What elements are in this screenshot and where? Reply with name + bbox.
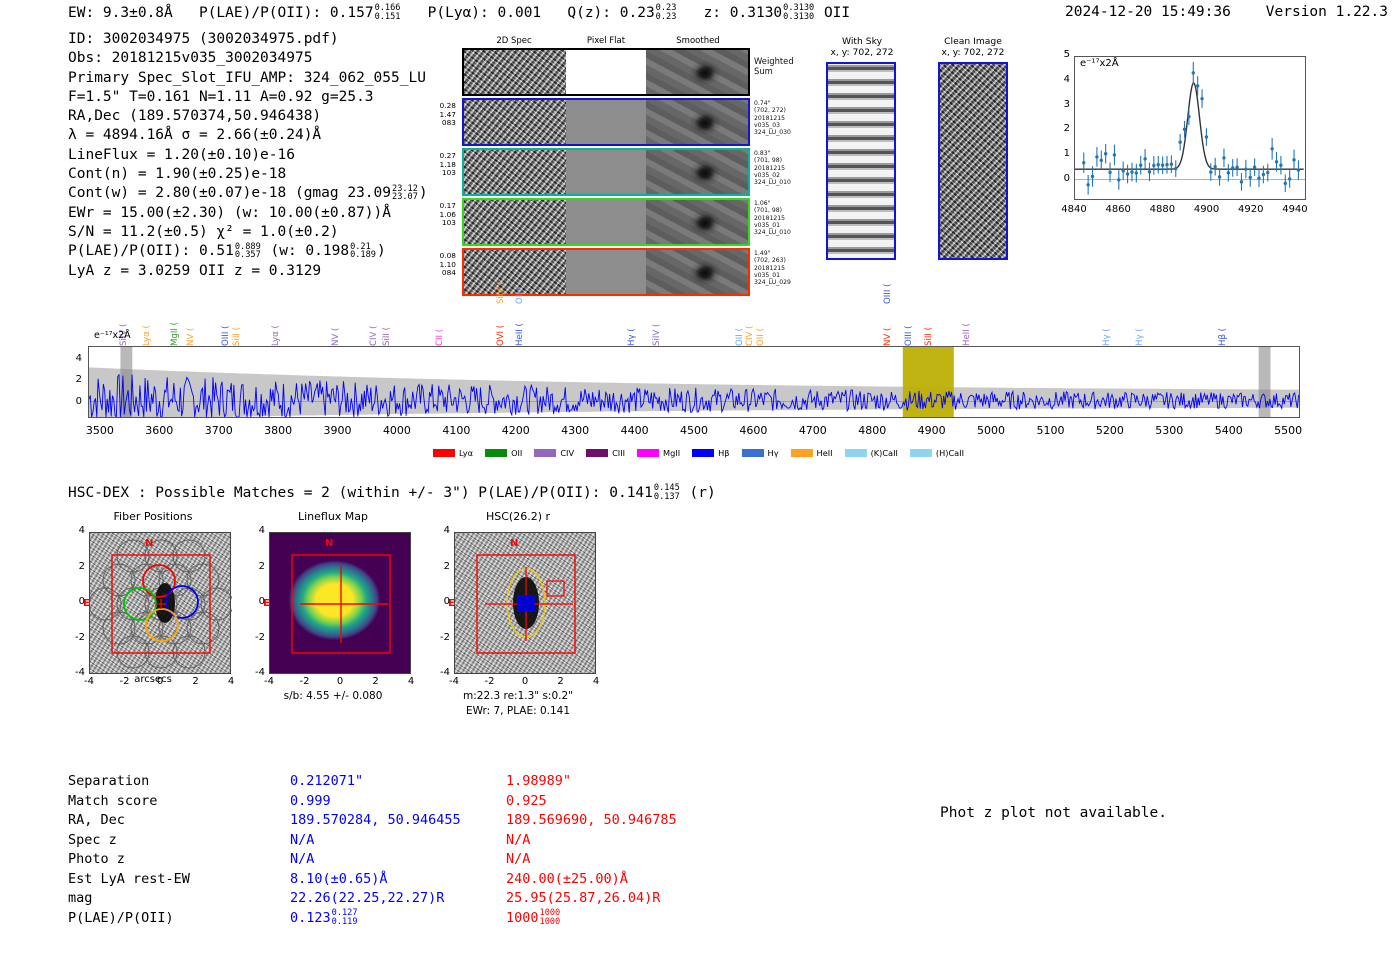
spectrum-xtick: 5000 xyxy=(967,424,1015,437)
match-row-red: N/A xyxy=(506,831,746,851)
zoom-line-plot: e⁻¹⁷x2Å 012345 484048604880490049204940 xyxy=(1040,56,1306,226)
match-row-red: 189.569690, 50.946785 xyxy=(506,811,746,831)
header-plae-range: 0.1660.151 xyxy=(375,4,401,22)
legend-swatch xyxy=(485,449,507,457)
spectrum-line-label: Hγ ( xyxy=(1135,304,1145,346)
montage-row-1-meta: 0.83"(701, 98)20181215v035_02324_LU_010 xyxy=(754,150,812,186)
spectrum-line-label: CIV ( xyxy=(745,304,755,346)
zoom-ytick: 5 xyxy=(1056,49,1070,60)
info-cont-w: Cont(w) = 2.80(±0.07)e-18 (gmag 23.0923.… xyxy=(68,184,428,203)
zoom-xtick: 4940 xyxy=(1275,204,1315,215)
photz-note: Phot z plot not available. xyxy=(940,805,1167,821)
compass-north-hsc: N xyxy=(510,538,518,549)
header-qz-value: 0.23 xyxy=(620,5,655,21)
spectrum-legend-item: Hγ xyxy=(742,448,779,458)
panel-ytick: 0 xyxy=(430,596,450,607)
panel-ytick: 0 xyxy=(245,596,265,607)
legend-swatch xyxy=(637,449,659,457)
zoom-xtick: 4880 xyxy=(1142,204,1182,215)
spectrum-legend-item: Lyα xyxy=(433,448,473,458)
match-row-red: 100010001000 xyxy=(506,909,746,929)
spectrum-ytick: 2 xyxy=(66,374,82,385)
match-row-red: 1.98989" xyxy=(506,772,746,792)
panel-ytick: 2 xyxy=(245,561,265,572)
zoom-plot-annotation: e⁻¹⁷x2Å xyxy=(1080,58,1119,69)
legend-label: CIV xyxy=(560,448,574,458)
source-info-block: ID: 3002034975 (3002034975.pdf) Obs: 201… xyxy=(68,30,428,281)
match-row-blue: 0.212071" xyxy=(290,772,520,792)
spectrum-legend-item: HeII xyxy=(791,448,833,458)
match-row-label: mag xyxy=(68,889,268,909)
zoom-xtick: 4900 xyxy=(1187,204,1227,215)
match-row-blue: 0.999 xyxy=(290,792,520,812)
cell-smoothed xyxy=(646,100,748,144)
match-row-blue: 189.570284, 50.946455 xyxy=(290,811,520,831)
spectrum-line-label: SiIV ( xyxy=(496,262,506,304)
fiber-overlay-svg xyxy=(90,533,232,675)
zoom-plot-axes xyxy=(1074,56,1306,200)
spectrum-annotation: e⁻¹⁷x2Å xyxy=(94,330,131,341)
header-z-line: OII xyxy=(824,5,850,21)
spectrum-legend-item: OII xyxy=(485,448,522,458)
info-lineflux: LineFlux = 1.20(±0.10)e-16 xyxy=(68,146,428,165)
panel-xtick: 2 xyxy=(547,676,575,687)
header-plya-value: 0.001 xyxy=(498,5,542,21)
panel-ytick: -2 xyxy=(65,632,85,643)
compass-north-lineflux: N xyxy=(325,538,333,549)
hscdex-summary: HSC-DEX : Possible Matches = 2 (within +… xyxy=(68,484,716,502)
hscdex-line-pre: HSC-DEX : Possible Matches = 2 (within +… xyxy=(68,485,653,501)
match-row-label: Match score xyxy=(68,792,268,812)
legend-label: Lyα xyxy=(459,448,473,458)
panel-xtick: -2 xyxy=(111,676,139,687)
panel-ytick: 2 xyxy=(430,561,450,572)
cell-smoothed xyxy=(646,150,748,194)
zoom-ytick: 0 xyxy=(1056,173,1070,184)
spectrum-xtick: 4300 xyxy=(551,424,599,437)
legend-swatch xyxy=(910,449,932,457)
spectrum-legend-item: CIV xyxy=(534,448,574,458)
header-ew: EW: 9.3±0.8Å xyxy=(68,5,173,21)
panel-xtick: 0 xyxy=(326,676,354,687)
spectrum-line-label: CIV ( xyxy=(369,304,379,346)
panel-xtick: 4 xyxy=(217,676,245,687)
spectrum-line-label: Hβ ( xyxy=(1218,304,1228,346)
info-obs: Obs: 20181215v035_3002034975 xyxy=(68,49,428,68)
match-row-blue: 22.26(22.25,22.27)R xyxy=(290,889,520,909)
panel-ytick: -4 xyxy=(430,667,450,678)
header-z-range: 0.31300.3130 xyxy=(783,4,814,22)
timestamp-version: 2024-12-20 15:49:36 Version 1.22.3 xyxy=(1065,4,1388,20)
zoom-xtick: 4840 xyxy=(1054,204,1094,215)
montage-row-2-meta: 1.06"(701, 98)20181215v035_01324_LU_010 xyxy=(754,200,812,236)
header-plae-label: P(LAE)/P(OII): xyxy=(199,5,321,21)
montage-weighted-sum-label: Weighted Sum xyxy=(754,56,812,76)
spectrum-xtick: 4000 xyxy=(373,424,421,437)
lineflux-overlay-svg xyxy=(270,533,412,675)
spectrum-axes xyxy=(88,346,1300,418)
info-plae: P(LAE)/P(OII): 0.510.8890.357 (w: 0.1980… xyxy=(68,242,428,261)
panel-xtick: -2 xyxy=(476,676,504,687)
legend-label: MgII xyxy=(663,448,680,458)
spectrum-legend: LyαOIICIVCIIIMgIIHβHγHeII(K)CaII(H)CaII xyxy=(433,442,976,461)
panel-ytick: 4 xyxy=(430,525,450,536)
legend-label: Hγ xyxy=(768,448,779,458)
cell-2dspec xyxy=(464,50,566,94)
legend-label: HeII xyxy=(817,448,833,458)
header-summary-line: EW: 9.3±0.8Å P(LAE)/P(OII): 0.1570.1660.… xyxy=(68,4,850,22)
cell-smoothed xyxy=(646,200,748,244)
spectrum-line-label: SiIV ( xyxy=(652,304,662,346)
spectrum-xtick: 4500 xyxy=(670,424,718,437)
legend-label: CIII xyxy=(612,448,625,458)
timestamp: 2024-12-20 15:49:36 xyxy=(1065,4,1231,20)
spectrum-line-label: OIII ( xyxy=(904,304,914,346)
cell-pixelflat xyxy=(566,50,646,94)
match-row-blue: N/A xyxy=(290,850,520,870)
cell-pixelflat xyxy=(566,250,646,294)
montage-row-weighted-sum xyxy=(462,48,750,96)
info-cont-n: Cont(n) = 1.90(±0.25)e-18 xyxy=(68,165,428,184)
spectrum-xtick: 5200 xyxy=(1086,424,1134,437)
legend-swatch xyxy=(692,449,714,457)
spectrum-xtick: 3600 xyxy=(135,424,183,437)
spectrum-line-label: OVI ( xyxy=(496,304,506,346)
info-ewr: EWr = 15.00(±2.30) (w: 10.00(±0.87))Å xyxy=(68,204,428,223)
montage-row-0-meta: 0.74"(702, 272)20181215v035_03324_LU_030 xyxy=(754,100,812,136)
spectrum-legend-item: Hβ xyxy=(692,448,729,458)
montage-row-2[interactable] xyxy=(462,198,750,246)
match-row-red: 0.925 xyxy=(506,792,746,812)
header-plae-value: 0.157 xyxy=(330,5,374,21)
spectrum-line-label: NV ( xyxy=(186,304,196,346)
legend-swatch xyxy=(845,449,867,457)
hsc-caption-1: m:22.3 re:1.3" s:0.2" xyxy=(423,690,613,702)
hsc-r-image[interactable] xyxy=(454,532,596,674)
panel-xtick: 0 xyxy=(146,676,174,687)
spectrum-xtick: 4900 xyxy=(908,424,956,437)
spectrum-xtick: 4200 xyxy=(492,424,540,437)
montage-row-1-left-stats: 0.271.18103 xyxy=(428,152,456,178)
spectrum-line-label: OII ( xyxy=(756,304,766,346)
panel-ytick: 4 xyxy=(65,525,85,536)
cell-pixelflat xyxy=(566,200,646,244)
match-row-label: Photo z xyxy=(68,850,268,870)
spectrum-xtick: 5100 xyxy=(1026,424,1074,437)
panel-ytick: 4 xyxy=(245,525,265,536)
cleanimage-title: Clean Imagex, y: 702, 272 xyxy=(918,36,1028,58)
panel-xtick: -2 xyxy=(291,676,319,687)
lineflux-map-image[interactable] xyxy=(269,532,411,674)
match-row-red: N/A xyxy=(506,850,746,870)
spectrum-svg xyxy=(89,347,1299,417)
panel-xtick: 0 xyxy=(511,676,539,687)
spectrum-legend-item: (K)CaII xyxy=(845,448,898,458)
montage-title-smoothed: Smoothed xyxy=(646,36,750,46)
info-params: F=1.5" T=0.161 N=1.11 A=0.92 g=25.3 xyxy=(68,88,428,107)
spectrum-line-label: Lyα ( xyxy=(271,304,281,346)
panel-ytick: -2 xyxy=(245,632,265,643)
clean-cutout-group: Clean Imagex, y: 702, 272 xyxy=(918,36,1028,58)
spectrum-xtick: 4700 xyxy=(789,424,837,437)
zoom-plot-svg xyxy=(1075,57,1305,199)
spectrum-line-label: NV ( xyxy=(331,304,341,346)
cell-2dspec xyxy=(464,200,566,244)
panel-ytick: -4 xyxy=(245,667,265,678)
spectrum-xtick: 4100 xyxy=(432,424,480,437)
info-primary-spec: Primary Spec_Slot_IFU_AMP: 324_062_055_L… xyxy=(68,69,428,88)
match-row-blue: 8.10(±0.65)Å xyxy=(290,870,520,890)
montage-title-2dspec: 2D Spec xyxy=(462,36,566,46)
spectrum-line-label: SiII ( xyxy=(382,304,392,346)
panel-ytick: 0 xyxy=(65,596,85,607)
spectrum-line-label: MgII ( xyxy=(170,304,180,346)
legend-swatch xyxy=(534,449,556,457)
spectrum-xtick: 3500 xyxy=(76,424,124,437)
match-row-label: Est LyA rest-EW xyxy=(68,870,268,890)
spectrum-xtick: 4400 xyxy=(611,424,659,437)
spectrum-xtick: 5300 xyxy=(1145,424,1193,437)
spectrum-xtick: 4800 xyxy=(848,424,896,437)
montage-row-3-left-stats: 0.081.10084 xyxy=(428,252,456,278)
spectrum-line-label: OII ( xyxy=(735,304,745,346)
montage-row-3-meta: 1.49"(702, 263)20181215v035_01324_LU_029 xyxy=(754,250,812,286)
match-row-blue: 0.1230.1270.119 xyxy=(290,909,520,929)
cell-smoothed xyxy=(646,250,748,294)
fiber-positions-title: Fiber Positions xyxy=(63,510,243,523)
montage-title-pixelflat: Pixel Flat xyxy=(566,36,646,46)
spectrum-line-label: SiII ( xyxy=(924,304,934,346)
cell-pixelflat xyxy=(566,150,646,194)
legend-swatch xyxy=(433,449,455,457)
legend-label: Hβ xyxy=(718,448,729,458)
cell-smoothed xyxy=(646,50,748,94)
legend-swatch xyxy=(791,449,813,457)
spectrum-xtick: 5500 xyxy=(1264,424,1312,437)
spectrum-xtick: 3700 xyxy=(195,424,243,437)
withsky-image xyxy=(826,62,896,260)
zoom-ytick: 4 xyxy=(1056,74,1070,85)
spectrum-line-label: OIII ( xyxy=(221,304,231,346)
full-spectrum-panel: SiIV (Lyα (MgII (NV (OIII (SiII (Lyα (NV… xyxy=(88,346,1300,418)
hscdex-plae-range: 0.1450.137 xyxy=(654,484,680,502)
lineflux-caption: s/b: 4.55 +/- 0.080 xyxy=(243,690,423,702)
hsc-r-title: HSC(26.2) r xyxy=(423,510,613,523)
header-z-value: 0.3130 xyxy=(730,5,782,21)
spectrum-line-label: OII ( xyxy=(515,262,525,304)
montage-row-1[interactable] xyxy=(462,148,750,196)
match-row-red: 25.95(25.87,26.04)R xyxy=(506,889,746,909)
spectrum-line-label: CII ( xyxy=(435,304,445,346)
legend-swatch xyxy=(742,449,764,457)
header-z-label: z: xyxy=(704,5,721,21)
zoom-ytick: 1 xyxy=(1056,148,1070,159)
lineflux-map-title: Lineflux Map xyxy=(243,510,423,523)
spectrum-line-label: SiII ( xyxy=(232,304,242,346)
spectrum-line-label: Lyα ( xyxy=(142,304,152,346)
match-row-label: RA, Dec xyxy=(68,811,268,831)
info-sn-chi2: S/N = 11.2(±0.5) χ² = 1.0(±0.2) xyxy=(68,223,428,242)
legend-label: (K)CaII xyxy=(871,448,898,458)
zoom-ytick: 2 xyxy=(1056,123,1070,134)
hscdex-line-post: (r) xyxy=(690,485,716,501)
zoom-xtick: 4920 xyxy=(1231,204,1271,215)
panel-ytick: -4 xyxy=(65,667,85,678)
fiber-positions-image[interactable] xyxy=(89,532,231,674)
cell-2dspec xyxy=(464,150,566,194)
cell-2dspec xyxy=(464,100,566,144)
version-label: Version 1.22.3 xyxy=(1266,4,1388,20)
hsc-overlay-svg xyxy=(455,533,597,675)
match-row-red: 240.00(±25.00)Å xyxy=(506,870,746,890)
spectrum-xtick: 4600 xyxy=(729,424,777,437)
spectrum-line-label: Hγ ( xyxy=(627,304,637,346)
spectrum-line-label: HeII ( xyxy=(962,304,972,346)
panel-xtick: 4 xyxy=(582,676,610,687)
spectrum-ytick: 0 xyxy=(66,396,82,407)
panel-xtick: 4 xyxy=(397,676,425,687)
panel-ytick: 2 xyxy=(65,561,85,572)
spectrum-line-label: OIII ( xyxy=(883,262,893,304)
montage-row-0[interactable] xyxy=(462,98,750,146)
panel-xtick: 2 xyxy=(362,676,390,687)
hsc-caption-2: EWr: 7, PLAE: 0.141 xyxy=(423,705,613,717)
spectrum-xtick: 3800 xyxy=(254,424,302,437)
cleanimage-image xyxy=(938,62,1008,260)
info-lambda-sigma: λ = 4894.16Å σ = 2.66(±0.24)Å xyxy=(68,126,428,145)
spectrum-legend-item: MgII xyxy=(637,448,680,458)
match-row-label: Spec z xyxy=(68,831,268,851)
match-row-label: P(LAE)/P(OII) xyxy=(68,909,268,929)
cell-pixelflat xyxy=(566,100,646,144)
match-row-label: Separation xyxy=(68,772,268,792)
spectrum-legend-item: CIII xyxy=(586,448,625,458)
spectrum-line-label: NV ( xyxy=(883,304,893,346)
montage-row-0-left-stats: 0.281.47083 xyxy=(428,102,456,128)
withsky-cutout-group: With Skyx, y: 702, 272 xyxy=(812,36,912,58)
legend-label: OII xyxy=(511,448,522,458)
header-qz-range: 0.230.23 xyxy=(656,4,677,22)
compass-north-fiber: N xyxy=(145,538,153,549)
info-redshifts: LyA z = 3.0259 OII z = 0.3129 xyxy=(68,262,428,281)
legend-swatch xyxy=(586,449,608,457)
spectrum-line-label: Hγ ( xyxy=(1102,304,1112,346)
info-radec: RA,Dec (189.570374,50.946438) xyxy=(68,107,428,126)
withsky-title: With Skyx, y: 702, 272 xyxy=(812,36,912,58)
header-plya-label: P(Lyα): xyxy=(428,5,489,21)
spectrum-ytick: 4 xyxy=(66,353,82,364)
spectrum-xtick: 5400 xyxy=(1205,424,1253,437)
zoom-xtick: 4860 xyxy=(1098,204,1138,215)
spectrum-legend-item: (H)CaII xyxy=(910,448,964,458)
montage-row-2-left-stats: 0.171.06103 xyxy=(428,202,456,228)
header-qz-label: Q(z): xyxy=(567,5,611,21)
info-id: ID: 3002034975 (3002034975.pdf) xyxy=(68,30,428,49)
match-row-blue: N/A xyxy=(290,831,520,851)
legend-label: (H)CaII xyxy=(936,448,964,458)
panel-xtick: 2 xyxy=(182,676,210,687)
zoom-ytick: 3 xyxy=(1056,99,1070,110)
panel-ytick: -2 xyxy=(430,632,450,643)
spectrum-line-label: HeII ( xyxy=(515,304,525,346)
spectrum-xtick: 3900 xyxy=(314,424,362,437)
